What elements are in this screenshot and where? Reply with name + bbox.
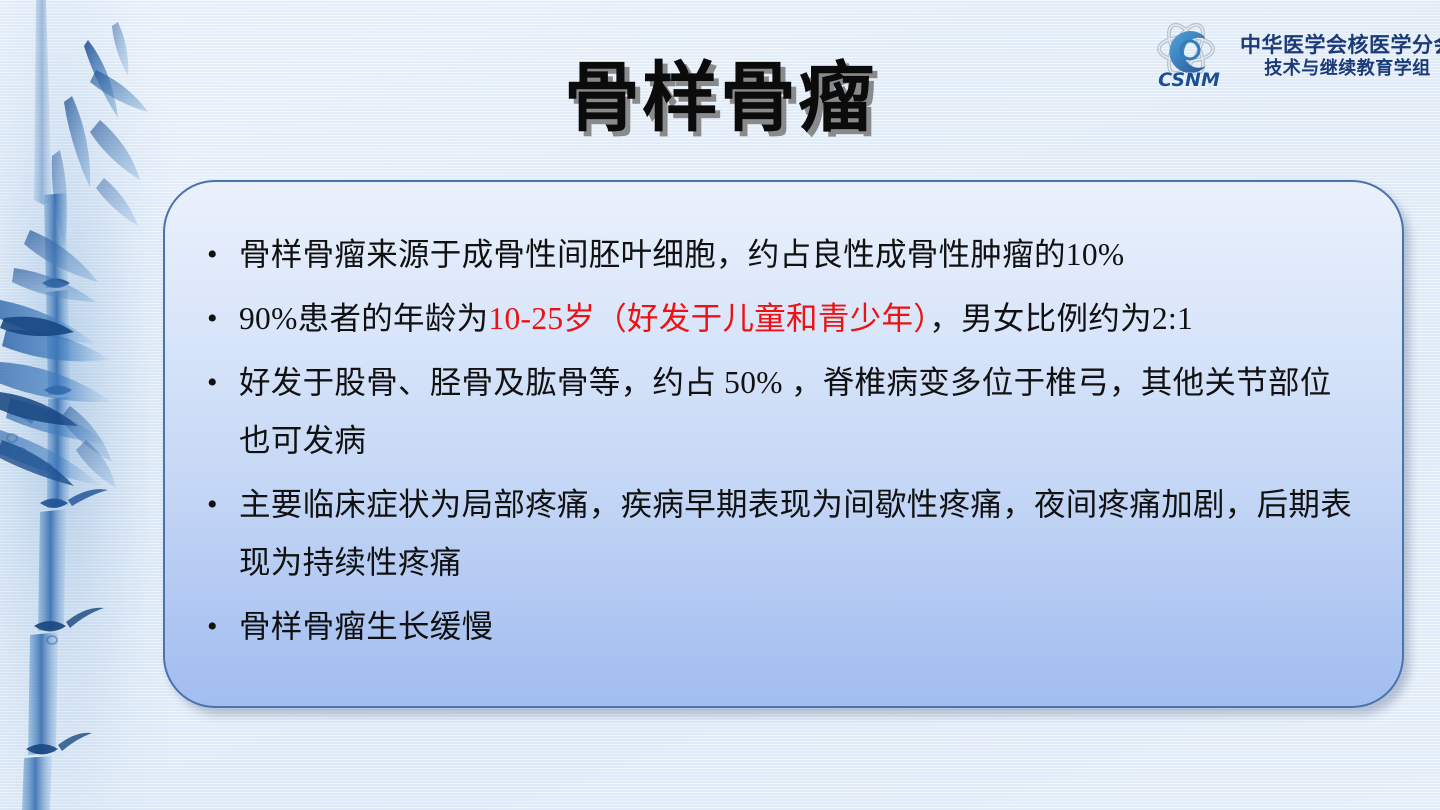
plain-text: 骨样骨瘤来源于成骨性间胚叶细胞，约占良性成骨性肿瘤的10% xyxy=(239,237,1124,272)
plain-text: 主要临床症状为局部疼痛，疾病早期表现为间歇性疼痛，夜间疼痛加剧，后期表现为持续性… xyxy=(239,487,1352,580)
plain-text: ，男女比例约为2:1 xyxy=(929,301,1193,336)
bullet-marker-icon: • xyxy=(187,476,239,534)
bullet-marker-icon: • xyxy=(187,354,239,412)
bullet-text: 主要临床症状为局部疼痛，疾病早期表现为间歇性疼痛，夜间疼痛加剧，后期表现为持续性… xyxy=(239,476,1360,592)
bullet-list: •骨样骨瘤来源于成骨性间胚叶细胞，约占良性成骨性肿瘤的10%•90%患者的年龄为… xyxy=(165,182,1402,656)
plain-text: 好发于股骨、胫骨及肱骨等，约占 50% ，脊椎病变多位于椎弓，其他关节部位也可发… xyxy=(239,365,1332,458)
bullet-item-common-sites: •好发于股骨、胫骨及肱骨等，约占 50% ，脊椎病变多位于椎弓，其他关节部位也可… xyxy=(187,354,1360,470)
bullet-item-growth-rate: •骨样骨瘤生长缓慢 xyxy=(187,598,1360,656)
bullet-item-clinical-symptoms: •主要临床症状为局部疼痛，疾病早期表现为间歇性疼痛，夜间疼痛加剧，后期表现为持续… xyxy=(187,476,1360,592)
bullet-text: 90%患者的年龄为10-25岁（好发于儿童和青少年），男女比例约为2:1 xyxy=(239,290,1360,348)
bullet-marker-icon: • xyxy=(187,598,239,656)
bullet-marker-icon: • xyxy=(187,290,239,348)
bullet-text: 骨样骨瘤来源于成骨性间胚叶细胞，约占良性成骨性肿瘤的10% xyxy=(239,226,1360,284)
bullet-item-origin-proportion: •骨样骨瘤来源于成骨性间胚叶细胞，约占良性成骨性肿瘤的10% xyxy=(187,226,1360,284)
plain-text: 90%患者的年龄为 xyxy=(239,301,488,336)
bullet-item-age-sex-ratio: •90%患者的年龄为10-25岁（好发于儿童和青少年），男女比例约为2:1 xyxy=(187,290,1360,348)
plain-text: 骨样骨瘤生长缓慢 xyxy=(239,609,493,644)
organization-name-line1: 中华医学会核医学分会 xyxy=(1240,33,1440,58)
presentation-slide: CSNM 中华医学会核医学分会 技术与继续教育学组 骨样骨瘤 •骨样骨瘤来源于成… xyxy=(0,0,1440,810)
content-panel: •骨样骨瘤来源于成骨性间胚叶细胞，约占良性成骨性肿瘤的10%•90%患者的年龄为… xyxy=(163,180,1404,708)
slide-title: 骨样骨瘤 xyxy=(0,58,1440,138)
highlighted-text: 10-25岁（好发于儿童和青少年） xyxy=(488,301,929,336)
bullet-marker-icon: • xyxy=(187,226,239,284)
bullet-text: 好发于股骨、胫骨及肱骨等，约占 50% ，脊椎病变多位于椎弓，其他关节部位也可发… xyxy=(239,354,1360,470)
bullet-text: 骨样骨瘤生长缓慢 xyxy=(239,598,1360,656)
